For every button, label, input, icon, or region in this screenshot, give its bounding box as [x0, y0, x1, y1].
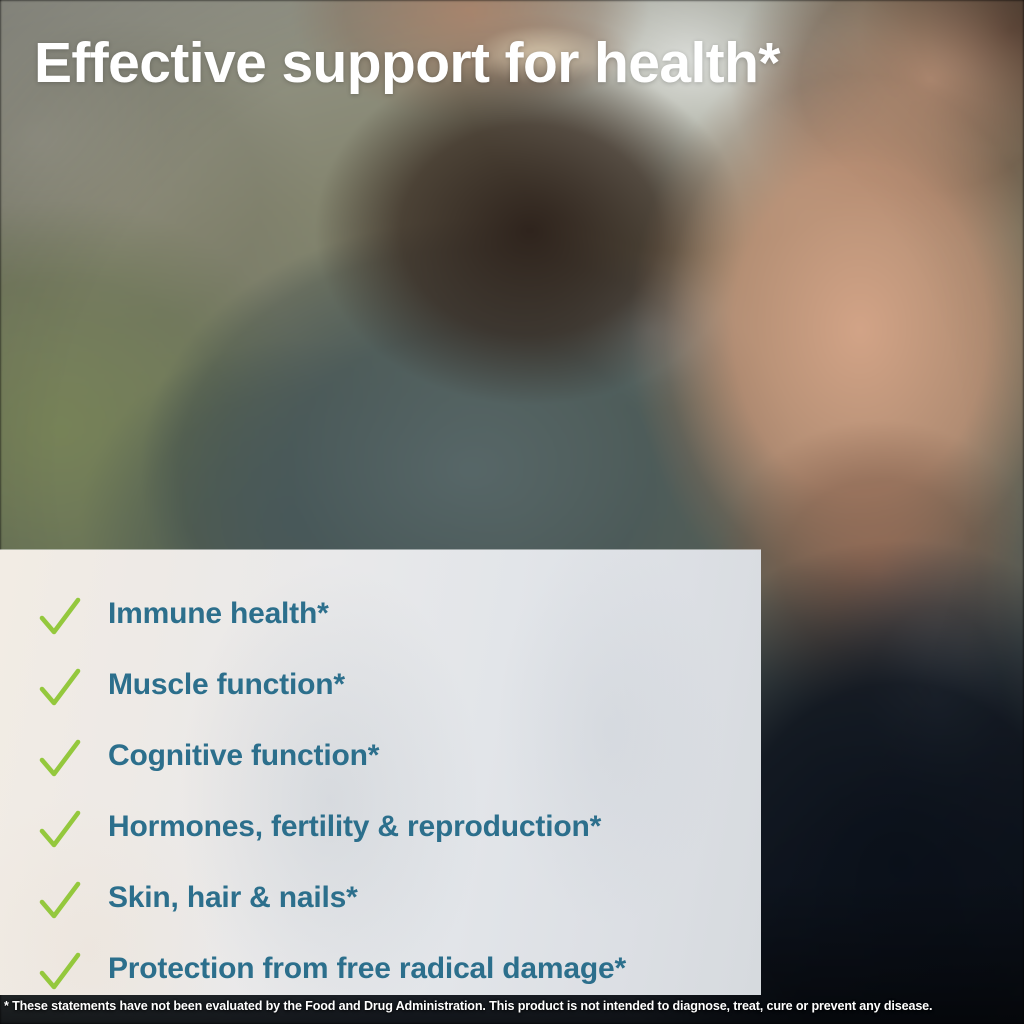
check-icon	[38, 808, 82, 852]
benefit-item: Hormones, fertility & reproduction*	[0, 791, 761, 862]
benefit-item: Muscle function*	[0, 649, 761, 720]
benefit-item: Cognitive function*	[0, 720, 761, 791]
benefit-label: Protection from free radical damage*	[108, 952, 626, 986]
benefit-label: Immune health*	[108, 597, 329, 631]
benefit-item: Immune health*	[0, 578, 761, 649]
benefit-label: Muscle function*	[108, 668, 345, 702]
benefit-label: Cognitive function*	[108, 739, 379, 773]
benefit-label: Hormones, fertility & reproduction*	[108, 810, 601, 844]
benefit-item: Skin, hair & nails*	[0, 862, 761, 933]
check-icon	[38, 879, 82, 923]
benefit-list: Immune health* Muscle function* Cognitiv…	[0, 550, 761, 1004]
headline: Effective support for health*	[34, 33, 780, 95]
check-icon	[38, 950, 82, 994]
check-icon	[38, 666, 82, 710]
benefit-panel: Immune health* Muscle function* Cognitiv…	[0, 550, 761, 995]
benefit-label: Skin, hair & nails*	[108, 881, 358, 915]
promo-image: Effective support for health* Immune hea…	[0, 0, 1024, 1024]
check-icon	[38, 737, 82, 781]
check-icon	[38, 595, 82, 639]
fda-disclaimer: * These statements have not been evaluat…	[4, 999, 1020, 1014]
benefit-item: Protection from free radical damage*	[0, 933, 761, 1004]
